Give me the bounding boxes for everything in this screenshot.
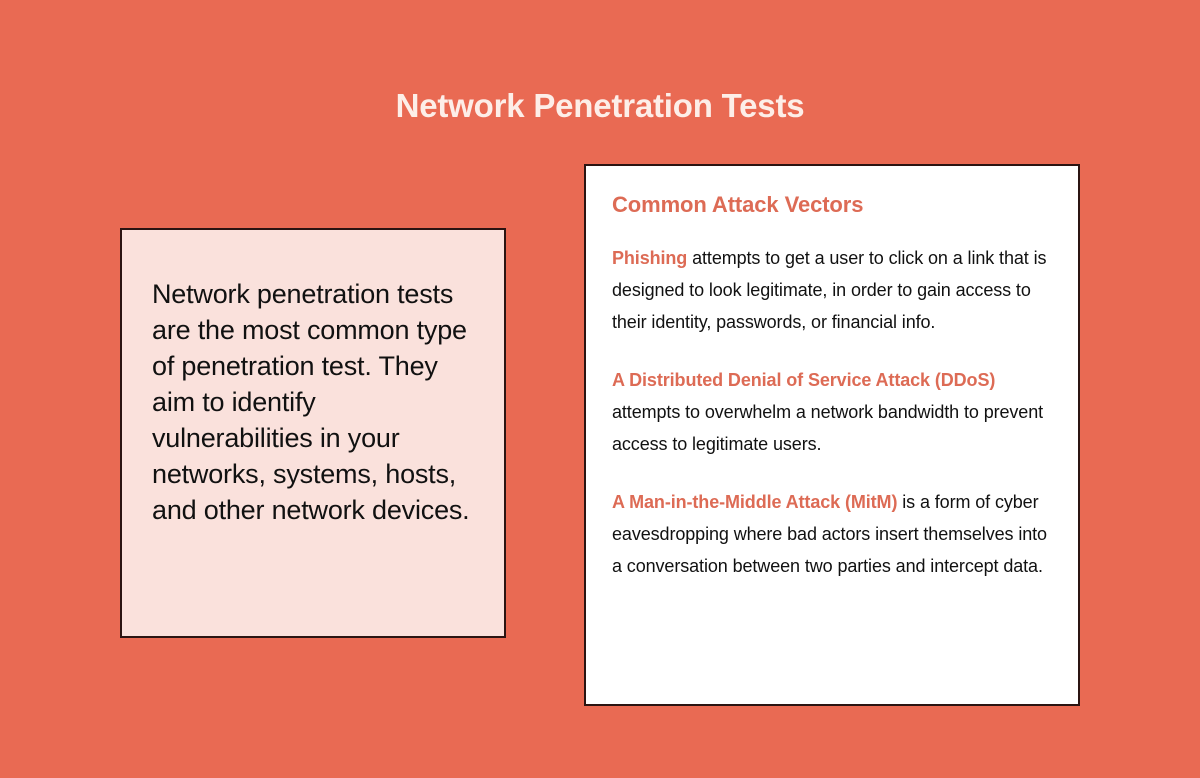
attack-vectors-heading: Common Attack Vectors <box>612 192 1048 218</box>
page-title: Network Penetration Tests <box>0 86 1200 126</box>
definition-card: Network penetration tests are the most c… <box>120 228 506 638</box>
attack-vectors-card: Common Attack Vectors Phishing attempts … <box>584 164 1080 706</box>
list-item: A Distributed Denial of Service Attack (… <box>612 364 1048 460</box>
vector-term-ddos: A Distributed Denial of Service Attack (… <box>612 370 995 390</box>
vector-term-phishing: Phishing <box>612 248 687 268</box>
definition-card-text: Network penetration tests are the most c… <box>152 276 474 528</box>
vector-description-ddos: attempts to overwhelm a network bandwidt… <box>612 402 1043 454</box>
slide-canvas: Network Penetration Tests Network penetr… <box>0 0 1200 778</box>
list-item: Phishing attempts to get a user to click… <box>612 242 1048 338</box>
list-item: A Man-in-the-Middle Attack (MitM) is a f… <box>612 486 1048 582</box>
vector-term-mitm: A Man-in-the-Middle Attack (MitM) <box>612 492 897 512</box>
